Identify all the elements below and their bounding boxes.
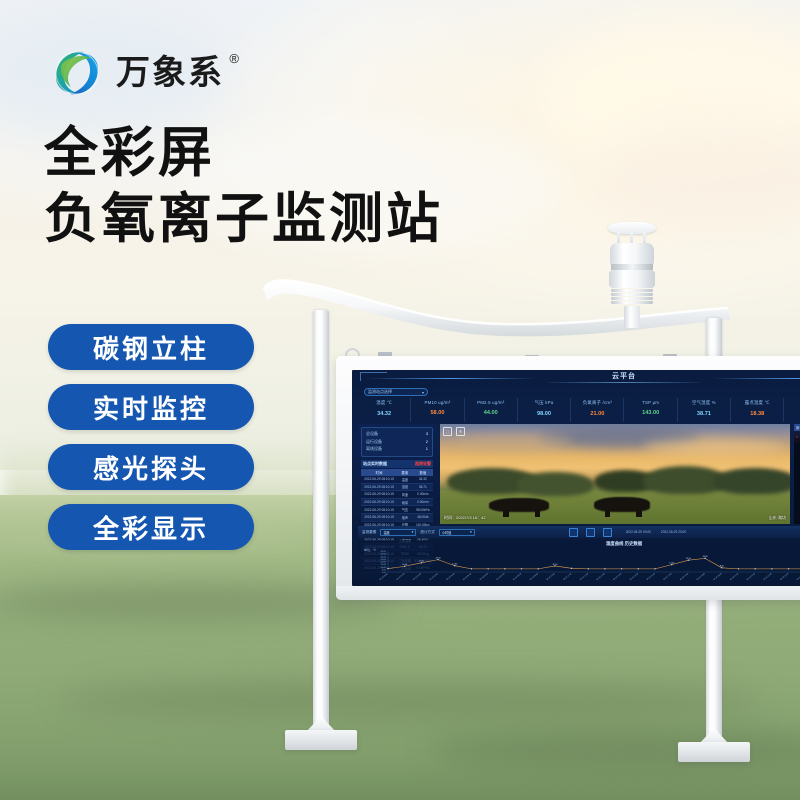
video-cow-leg: [636, 510, 642, 517]
date-range-group: 2022-06-29 00:00 2022-06-29 23:00: [626, 530, 686, 534]
cell-element: 气压: [397, 506, 413, 514]
screen-body: 总设备 3 运行设备 2 离线设备 1 站点实时数据 超限告警: [358, 424, 800, 524]
metric-label: 负氧离子 /cm³: [571, 400, 623, 406]
data-table-title: 站点实时数据: [363, 461, 387, 467]
svg-text:06-29 11:00: 06-29 11:00: [563, 573, 572, 581]
sensor-lower-body: [609, 270, 655, 288]
chart-type-icons: [569, 528, 612, 537]
svg-text:06-29 03:00: 06-29 03:00: [429, 573, 438, 581]
video-tree: [517, 472, 594, 496]
svg-text:06-29 02:00: 06-29 02:00: [413, 573, 422, 581]
cell-value: 0.30m/s: [413, 491, 433, 499]
svg-text:22.50: 22.50: [686, 558, 692, 560]
device-summary-label: 离线设备: [366, 445, 382, 453]
metric-label: 露点温度 ℃: [731, 400, 783, 406]
device-summary-value: 1: [426, 445, 428, 453]
cell-element: 温度: [397, 476, 413, 483]
brand-name: 万象系 ®: [116, 56, 224, 90]
alarm-row[interactable]: 1 2022-06-29 08:10:15 温度超出预警范围 (最高限值35℃)…: [794, 431, 800, 443]
table-row: 2022-06-29 08:10:15噪声48.00db: [361, 513, 433, 521]
svg-text:06-29 08:00: 06-29 08:00: [513, 573, 522, 581]
start-date-input[interactable]: 2022-06-29 00:00: [626, 530, 651, 534]
device-summary-row: 运行设备 2: [366, 438, 428, 446]
radiation-shield-fin: [611, 297, 653, 300]
svg-text:8.00: 8.00: [720, 566, 725, 568]
stat-type-value: 小时值: [442, 530, 452, 535]
svg-text:15.00: 15.00: [381, 564, 387, 566]
video-cow-leg: [605, 510, 611, 517]
screen-header: 云平台: [352, 370, 800, 386]
table-row: 2022-06-29 08:10:15雨量0.00mm: [361, 498, 433, 506]
svg-text:23.50: 23.50: [436, 557, 442, 559]
svg-text:06-29 13:00: 06-29 13:00: [596, 573, 605, 581]
element-filter-label: 监测要素: [362, 530, 376, 535]
svg-text:06-29 21:00: 06-29 21:00: [730, 573, 739, 581]
svg-text:40.00: 40.00: [381, 551, 387, 553]
radiation-shield-fin: [611, 289, 653, 292]
camera-feed[interactable]: ⛶ ⌾ 时间：2022/7/3 16：42 山东·潍坊: [440, 424, 790, 524]
cell-value: 48.00db: [413, 513, 433, 521]
svg-text:26.00: 26.00: [703, 556, 709, 558]
video-cow-leg: [535, 510, 541, 517]
table-header-row: 时间 要素 数值: [361, 469, 433, 476]
chart-title: 温度曲线 历史数据: [358, 540, 800, 547]
metric-value: 58.00: [411, 410, 463, 416]
radiation-shield-fin: [611, 301, 653, 304]
metric-label: 温度 ℃: [358, 400, 410, 406]
metric-value: 143.00: [624, 410, 676, 416]
svg-text:10.00: 10.00: [381, 567, 387, 569]
feature-badge-realtime-monitoring[interactable]: 实时监控: [48, 384, 254, 430]
svg-text:06-29 07:00: 06-29 07:00: [496, 573, 505, 581]
metric-value: 34.32: [358, 411, 410, 417]
video-cow-leg: [503, 510, 509, 517]
metric-dew-point: 露点温度 ℃ 18.38: [731, 398, 784, 422]
metric-value: 98.00: [518, 411, 570, 417]
svg-text:06-29 15:00: 06-29 15:00: [630, 573, 639, 581]
cell-time: 2022-06-29 08:10:15: [361, 491, 397, 499]
svg-text:06-29 00:00: 06-29 00:00: [379, 573, 388, 581]
alarm-column-index: 序号: [796, 425, 800, 430]
screen-title: 云平台: [352, 371, 800, 381]
brand-logo-group: 万象系 ®: [48, 44, 224, 102]
svg-text:06-29 12:00: 06-29 12:00: [580, 573, 589, 581]
table-row: 2022-06-29 08:10:15气压98.00kPa: [361, 506, 433, 514]
metric-pressure: 气压 kPa 98.00: [518, 398, 571, 422]
line-chart-icon[interactable]: [569, 528, 578, 537]
data-table-header-bar: 站点实时数据 超限告警: [361, 460, 433, 468]
cell-value: 38.71: [413, 483, 433, 491]
sensor-mount-stem: [624, 306, 640, 328]
metric-value: 21.00: [571, 411, 623, 417]
device-summary-row: 总设备 3: [366, 430, 428, 438]
cell-time: 2022-06-29 08:10:15: [361, 498, 397, 506]
feature-badge-list: 碳钢立柱 实时监控 感光探头 全彩显示: [48, 324, 254, 550]
fullscreen-icon[interactable]: ⛶: [443, 427, 452, 436]
history-chart: 温度曲线 历史数据 最高值 最低值 单位：℃ 0.005.0010.0015.0…: [358, 540, 800, 584]
metric-label: 气压 kPa: [518, 400, 570, 406]
alarm-table-header: 序号 告警时间 告警内容: [794, 424, 800, 431]
svg-text:5.00: 5.00: [382, 569, 387, 571]
svg-text:06-29 09:00: 06-29 09:00: [530, 573, 539, 581]
metric-strip: 温度 ℃ 34.32 PM10 ug/m³ 58.00 PM2.5 ug/m³ …: [358, 398, 800, 422]
cabinet-bottom-rail: [336, 586, 800, 600]
left-panel: 总设备 3 运行设备 2 离线设备 1 站点实时数据 超限告警: [358, 424, 436, 524]
left-support-post: [313, 310, 329, 730]
table-row: 2022-06-29 08:10:15风速0.30m/s: [361, 491, 433, 499]
stat-type-select[interactable]: 小时值 ▾: [439, 529, 475, 536]
chevron-down-icon: ▾: [422, 390, 424, 395]
svg-text:06-29 01:00: 06-29 01:00: [396, 573, 405, 581]
metric-value: 18.38: [731, 411, 783, 417]
chart-control-bar: 监测要素 温度 ▾ 统计方式 小时值 ▾ 2022-06-29 00:00 20…: [358, 526, 800, 538]
brand-name-text: 万象系: [116, 54, 224, 92]
metric-negative-ion: 负氧离子 /cm³ 21.00: [571, 398, 624, 422]
export-icon[interactable]: [603, 528, 612, 537]
left-base-plate: [285, 730, 357, 750]
station-select-dropdown[interactable]: 监测站点选择 ▾: [364, 388, 428, 396]
feature-badge-light-sensor[interactable]: 感光探头: [48, 444, 254, 490]
cell-time: 2022-06-29 08:10:15: [361, 483, 397, 491]
alarm-panel: 序号 告警时间 告警内容 1 2022-06-29 08:10:15 温度超出预…: [794, 424, 800, 524]
stat-type-label: 统计方式: [420, 530, 434, 535]
metric-pm10: PM10 ug/m³ 58.00: [411, 398, 464, 422]
metric-label: PM10 ug/m³: [411, 400, 463, 405]
cell-time: 2022-06-29 08:10:15: [361, 506, 397, 514]
metric-tsp: TSP μm 143.00: [624, 398, 677, 422]
video-panel[interactable]: ⛶ ⌾ 时间：2022/7/3 16：42 山东·潍坊: [440, 424, 790, 524]
metric-humidity: 空气湿度 % 38.71: [678, 398, 731, 422]
chevron-down-icon: ▾: [412, 530, 414, 534]
cell-element: 风速: [397, 491, 413, 499]
right-base-plate: [678, 742, 750, 762]
svg-text:06-29 05:00: 06-29 05:00: [463, 573, 472, 581]
column-header-value: 数值: [413, 469, 433, 476]
svg-text:30.00: 30.00: [381, 556, 387, 558]
metric-label: PM2.5 ug/m³: [465, 400, 517, 405]
svg-text:06-29 16:00: 06-29 16:00: [646, 573, 655, 581]
grass-streak: [60, 680, 760, 720]
svg-text:06-29 23:00: 06-29 23:00: [763, 573, 772, 581]
chevron-down-icon: ▾: [470, 530, 472, 534]
device-summary-row: 离线设备 1: [366, 445, 428, 453]
headline-line-2: 负氧离子监测站: [44, 188, 564, 252]
svg-text:25.00: 25.00: [381, 559, 387, 561]
metric-label: 空气湿度 %: [678, 400, 730, 406]
table-row: 2022-06-29 08:10:15温度34.32: [361, 476, 433, 483]
device-summary-value: 3: [426, 430, 428, 438]
video-cow: [594, 497, 650, 512]
radiation-shield-fin: [611, 293, 653, 296]
cell-value: 34.32: [413, 476, 433, 483]
device-summary-card: 总设备 3 运行设备 2 离线设备 1: [361, 427, 433, 457]
metric-value: 38.71: [678, 411, 730, 417]
device-summary-label: 运行设备: [366, 438, 382, 446]
svg-text:06-29 14:00: 06-29 14:00: [613, 573, 622, 581]
metric-noise: 噪声 db 48.00: [784, 398, 800, 422]
device-summary-label: 总设备: [366, 430, 378, 438]
end-date-input[interactable]: 2022-06-29 23:00: [661, 530, 686, 534]
headline-line-1: 全彩屏: [44, 124, 564, 182]
cell-element: 雨量: [397, 498, 413, 506]
led-screen[interactable]: 云平台 监测站点选择 ▾ 欢迎您登录：管理员 退出 温度 ℃ 34.32 PM1…: [352, 370, 800, 586]
svg-text:06-29 17:00: 06-29 17:00: [663, 573, 672, 581]
bar-chart-icon[interactable]: [586, 528, 595, 537]
cell-element: 湿度: [397, 483, 413, 491]
svg-text:06-29 20:00: 06-29 20:00: [713, 573, 722, 581]
svg-text:06-29 04:00: 06-29 04:00: [446, 573, 455, 581]
svg-text:06-29 23:59: 06-29 23:59: [780, 573, 789, 581]
registered-mark-icon: ®: [229, 52, 241, 65]
snapshot-icon[interactable]: ⌾: [456, 427, 465, 436]
video-overlay-buttons: ⛶ ⌾: [443, 427, 465, 436]
metric-label: 噪声 db: [784, 400, 800, 406]
video-cloud: [643, 438, 783, 456]
cell-value: 0.00mm: [413, 498, 433, 506]
element-filter-select[interactable]: 温度 ▾: [380, 529, 416, 536]
metric-value: 48.00: [784, 411, 800, 417]
video-tree: [713, 468, 790, 494]
device-summary-value: 2: [426, 438, 428, 446]
svg-text:14.00: 14.00: [669, 562, 675, 564]
metric-temperature: 温度 ℃ 34.32: [358, 398, 411, 422]
table-row: 2022-06-29 08:10:15湿度38.71: [361, 483, 433, 491]
video-timestamp: 时间：2022/7/3 16：42: [444, 515, 486, 521]
column-header-time: 时间: [361, 469, 397, 476]
alarm-panel-background: [794, 438, 800, 524]
metric-value: 44.00: [465, 410, 517, 416]
video-location-tag: 山东·潍坊: [769, 515, 786, 521]
cell-time: 2022-06-29 08:10:15: [361, 513, 397, 521]
alarm-index: 1: [796, 435, 800, 439]
cell-element: 噪声: [397, 513, 413, 521]
svg-text:06-29 19:00: 06-29 19:00: [697, 573, 706, 581]
svg-text:06-29 06:00: 06-29 06:00: [480, 573, 489, 581]
globe-swirl-logo-icon: [48, 44, 106, 102]
metric-pm25: PM2.5 ug/m³ 44.00: [465, 398, 518, 422]
svg-text:06-29 10:00: 06-29 10:00: [546, 573, 555, 581]
svg-text:06-29 22:00: 06-29 22:00: [747, 573, 756, 581]
column-header-element: 要素: [397, 469, 413, 476]
element-filter-value: 温度: [383, 530, 389, 535]
data-table-alarm-label[interactable]: 超限告警: [415, 461, 431, 467]
video-cloud: [454, 434, 573, 450]
metric-label: TSP μm: [624, 400, 676, 405]
svg-text:17.50: 17.50: [419, 561, 425, 563]
cell-value: 98.00kPa: [413, 506, 433, 514]
svg-text:12.00: 12.00: [452, 564, 458, 566]
feature-badge-carbon-steel-pillar[interactable]: 碳钢立柱: [48, 324, 254, 370]
feature-badge-full-color-display[interactable]: 全彩显示: [48, 504, 254, 550]
cell-time: 2022-06-29 08:10:15: [361, 476, 397, 483]
weather-sensor: [598, 218, 666, 314]
header-decoration-line: [548, 382, 700, 383]
svg-text:11.50: 11.50: [552, 564, 558, 566]
svg-text:06-29 18:00: 06-29 18:00: [680, 573, 689, 581]
headline-block: 全彩屏 负氧离子监测站: [44, 124, 564, 252]
station-select-value: 监测站点选择: [368, 389, 392, 395]
station-product-banner: 万象系 ® 全彩屏 负氧离子监测站 碳钢立柱 实时监控 感光探头 全彩显示: [0, 0, 800, 800]
sensor-upper-body: [610, 243, 654, 265]
svg-text:35.00: 35.00: [381, 554, 387, 556]
chart-plot: 0.005.0010.0015.0020.0025.0030.0035.0040…: [362, 548, 800, 582]
svg-text:20.00: 20.00: [381, 562, 387, 564]
